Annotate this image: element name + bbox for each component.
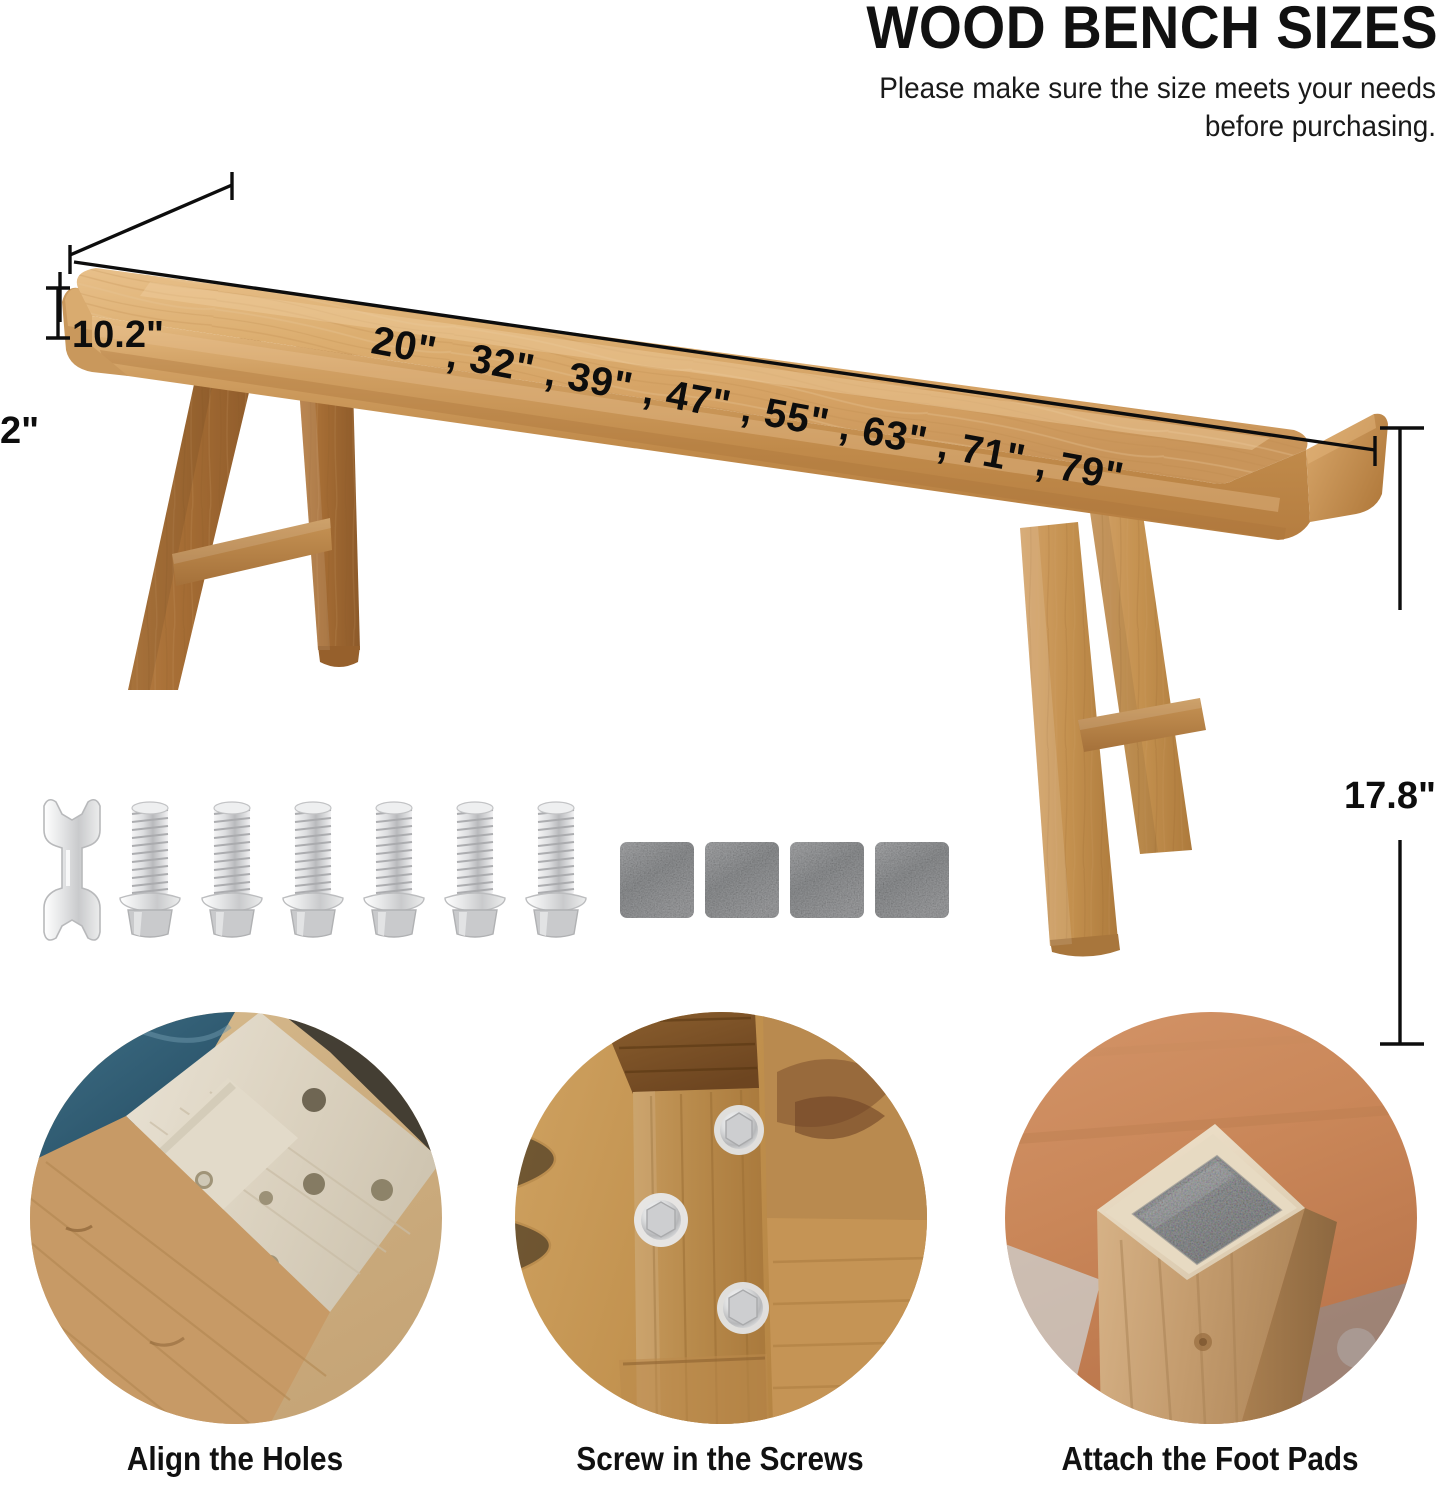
header: WOOD BENCH SIZES Please make sure the si… — [0, 0, 1454, 150]
height-dimension-label: 17.8" — [1344, 775, 1436, 818]
align-holes-photo — [30, 1012, 442, 1424]
hex-flange-bolt-icon — [120, 802, 180, 937]
felt-foot-pad-icon — [875, 842, 949, 918]
depth-dimension-line — [70, 185, 232, 255]
page-subtitle: Please make sure the size meets your nee… — [599, 70, 1436, 147]
depth-dimension-label: 10.2" — [72, 314, 164, 357]
hex-flange-bolt-icon — [283, 802, 343, 937]
attach-foot-pads-photo — [1005, 1012, 1417, 1424]
thickness-dimension-label: 2" — [0, 410, 39, 453]
hardware-row — [0, 780, 1000, 970]
instruction-step: Screw in the Screws — [500, 1000, 940, 1500]
hex-flange-bolt-icon — [445, 802, 505, 937]
screw-in-screws-photo — [515, 1012, 927, 1424]
page-title: WOOD BENCH SIZES — [426, 0, 1438, 59]
instruction-step: Attach the Foot Pads — [990, 1000, 1430, 1500]
hex-flange-bolt-icon — [526, 802, 586, 937]
step-caption: Screw in the Screws — [522, 1440, 918, 1478]
subtitle-line-1: Please make sure the size meets your nee… — [599, 70, 1436, 108]
bolt-group — [120, 802, 586, 937]
step-caption: Attach the Foot Pads — [1012, 1440, 1408, 1478]
infographic-root: WOOD BENCH SIZES Please make sure the si… — [0, 0, 1454, 1500]
felt-pad-group — [620, 842, 949, 918]
felt-foot-pad-icon — [705, 842, 779, 918]
bench-leg-assembly-right — [1020, 508, 1206, 957]
felt-foot-pad-icon — [620, 842, 694, 918]
wrench-icon — [44, 800, 100, 940]
instruction-steps: Align the Holes — [0, 1000, 1454, 1500]
subtitle-line-2: before purchasing. — [599, 108, 1436, 146]
hex-flange-bolt-icon — [364, 802, 424, 937]
hex-flange-bolt-icon — [202, 802, 262, 937]
instruction-step: Align the Holes — [15, 1000, 455, 1500]
felt-foot-pad-icon — [790, 842, 864, 918]
step-caption: Align the Holes — [37, 1440, 433, 1478]
hardware-parts — [0, 780, 1000, 970]
